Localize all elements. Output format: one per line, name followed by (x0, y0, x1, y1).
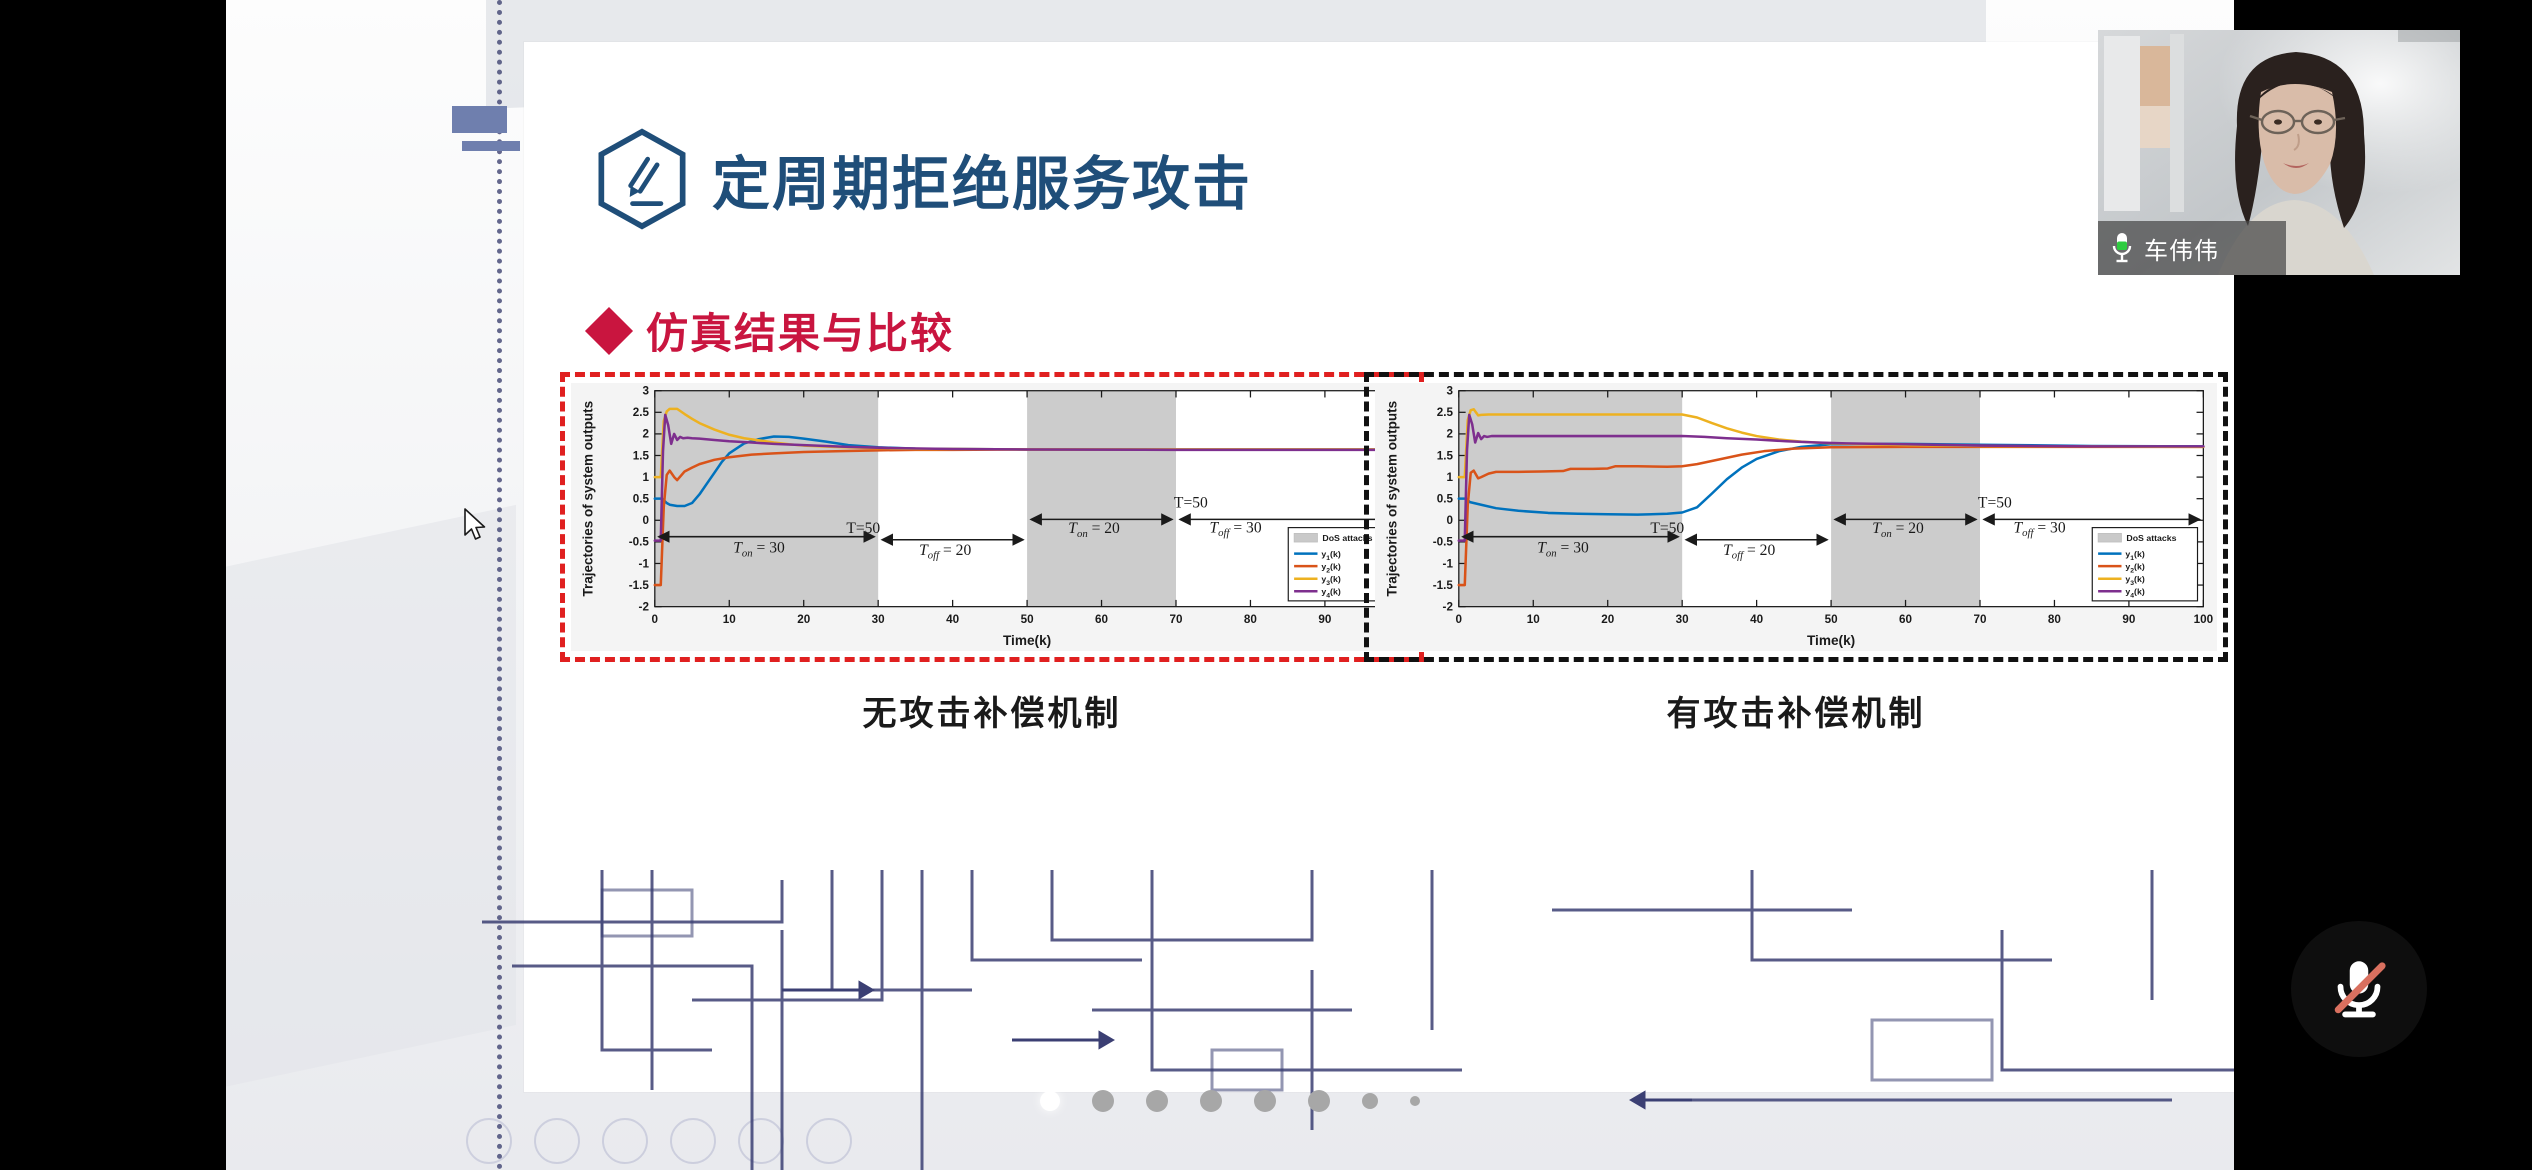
microphone-mute-button[interactable] (2291, 921, 2427, 1057)
figure-border: 0102030405060708090100-2-1.5-1-0.500.511… (1364, 372, 2228, 662)
svg-text:50: 50 (1825, 613, 1838, 626)
play-icon (534, 1118, 580, 1164)
figure-with-compensation: 0102030405060708090100-2-1.5-1-0.500.511… (1364, 372, 2228, 735)
note-icon (670, 1118, 716, 1164)
hexagon-pencil-icon (594, 127, 690, 231)
svg-text:-2: -2 (639, 601, 649, 614)
page-title: 定周期拒绝服务攻击 (712, 137, 1252, 221)
pointer-icon (602, 1118, 648, 1164)
decor-block (478, 106, 507, 133)
back-arrow-icon (466, 1118, 512, 1164)
participant-name-chip: 车伟伟 (2098, 221, 2286, 275)
svg-text:0: 0 (642, 514, 649, 527)
svg-text:2.5: 2.5 (1437, 406, 1454, 419)
svg-text:T=50: T=50 (846, 520, 880, 537)
svg-text:0: 0 (1446, 514, 1453, 527)
svg-text:2: 2 (642, 428, 649, 441)
svg-text:Ton = 20: Ton = 20 (1068, 520, 1120, 540)
svg-text:0: 0 (652, 613, 659, 626)
svg-text:Trajectories of system outputs: Trajectories of system outputs (1384, 401, 1399, 597)
participant-name: 车伟伟 (2144, 231, 2219, 266)
svg-text:T=50: T=50 (1174, 494, 1208, 511)
pagination-dot[interactable] (1092, 1090, 1114, 1112)
decor-strip (462, 141, 520, 151)
more-icon (806, 1118, 852, 1164)
microphone-icon (2110, 231, 2134, 265)
svg-text:40: 40 (946, 613, 959, 626)
microphone-muted-icon (2322, 952, 2396, 1026)
svg-text:Toff = 30: Toff = 30 (2013, 519, 2065, 539)
figure-border: 0102030405060708090100-2-1.5-1-0.500.511… (560, 372, 1424, 662)
svg-text:0.5: 0.5 (633, 493, 650, 506)
slide-subtitle: 仿真结果与比较 (646, 300, 954, 361)
pagination-dot[interactable] (1254, 1090, 1276, 1112)
svg-text:90: 90 (2122, 613, 2135, 626)
svg-text:Ton = 30: Ton = 30 (1537, 540, 1589, 560)
svg-text:20: 20 (797, 613, 810, 626)
svg-text:Toff = 20: Toff = 20 (919, 542, 971, 562)
svg-text:40: 40 (1750, 613, 1763, 626)
svg-text:2.5: 2.5 (633, 406, 650, 419)
svg-text:0.5: 0.5 (1437, 493, 1454, 506)
shared-screen-area: 定周期拒绝服务攻击 仿真结果与比较 0102030405060708090100… (226, 0, 2234, 1170)
figure-caption: 有攻击补偿机制 (1364, 686, 2228, 735)
svg-text:-1: -1 (1443, 557, 1454, 570)
svg-text:30: 30 (1676, 613, 1689, 626)
svg-text:Ton = 20: Ton = 20 (1872, 520, 1924, 540)
svg-text:10: 10 (723, 613, 736, 626)
svg-text:-1.5: -1.5 (629, 579, 650, 592)
svg-text:-1.5: -1.5 (1433, 579, 1454, 592)
svg-text:80: 80 (2048, 613, 2061, 626)
svg-text:60: 60 (1095, 613, 1108, 626)
svg-text:DoS attacks: DoS attacks (2126, 533, 2176, 543)
svg-text:1: 1 (1446, 471, 1453, 484)
figure-caption: 无攻击补偿机制 (560, 686, 1424, 735)
participant-video-tile[interactable]: 车伟伟 (2098, 30, 2460, 275)
svg-text:2: 2 (1446, 428, 1453, 441)
svg-text:1.5: 1.5 (1437, 449, 1454, 462)
svg-text:T=50: T=50 (1650, 520, 1684, 537)
pagination-dot[interactable] (1308, 1090, 1330, 1112)
svg-text:Toff = 30: Toff = 30 (1209, 519, 1261, 539)
screen: 定周期拒绝服务攻击 仿真结果与比较 0102030405060708090100… (0, 0, 2532, 1170)
slide-subtitle-row: 仿真结果与比较 (592, 300, 954, 361)
slide-pagination[interactable] (226, 1090, 2234, 1112)
svg-text:-2: -2 (1443, 601, 1453, 614)
svg-text:70: 70 (1169, 613, 1182, 626)
line-chart-left: 0102030405060708090100-2-1.5-1-0.500.511… (571, 383, 1413, 651)
svg-text:3: 3 (1446, 385, 1453, 398)
pagination-dot[interactable] (1040, 1091, 1060, 1111)
svg-text:-1: -1 (639, 557, 650, 570)
figure-no-compensation: 0102030405060708090100-2-1.5-1-0.500.511… (560, 372, 1424, 735)
svg-text:Trajectories of system outputs: Trajectories of system outputs (580, 401, 595, 597)
pagination-dot[interactable] (1362, 1093, 1378, 1109)
svg-text:0: 0 (1456, 613, 1463, 626)
svg-text:T=50: T=50 (1978, 494, 2012, 511)
mouse-pointer-icon (463, 508, 489, 542)
svg-text:50: 50 (1021, 613, 1034, 626)
background-glyph-row (466, 1118, 852, 1164)
svg-text:Time(k): Time(k) (1807, 633, 1855, 648)
svg-text:1.5: 1.5 (633, 449, 650, 462)
svg-text:100: 100 (2194, 613, 2214, 626)
chart-canvas-right: 0102030405060708090100-2-1.5-1-0.500.511… (1375, 383, 2217, 651)
svg-text:Ton = 30: Ton = 30 (733, 540, 785, 560)
svg-text:1: 1 (642, 471, 649, 484)
pagination-dot[interactable] (1200, 1090, 1222, 1112)
background-facet (226, 505, 516, 1095)
presentation-slide: 定周期拒绝服务攻击 仿真结果与比较 0102030405060708090100… (524, 42, 2234, 1092)
svg-text:-0.5: -0.5 (1433, 536, 1454, 549)
svg-text:90: 90 (1318, 613, 1331, 626)
svg-text:-0.5: -0.5 (629, 536, 650, 549)
diamond-bullet-icon (585, 306, 633, 354)
svg-text:Time(k): Time(k) (1003, 633, 1051, 648)
svg-text:10: 10 (1527, 613, 1540, 626)
dotted-divider-left (497, 0, 502, 1170)
chart-canvas-left: 0102030405060708090100-2-1.5-1-0.500.511… (571, 383, 1413, 651)
pagination-dot[interactable] (1410, 1096, 1420, 1106)
line-chart-right: 0102030405060708090100-2-1.5-1-0.500.511… (1375, 383, 2217, 651)
zoom-icon (738, 1118, 784, 1164)
svg-text:70: 70 (1973, 613, 1986, 626)
svg-text:60: 60 (1899, 613, 1912, 626)
svg-text:30: 30 (872, 613, 885, 626)
slide-title-row: 定周期拒绝服务攻击 (594, 127, 1252, 231)
svg-text:20: 20 (1601, 613, 1614, 626)
svg-text:3: 3 (642, 385, 649, 398)
svg-text:80: 80 (1244, 613, 1257, 626)
pagination-dot[interactable] (1146, 1090, 1168, 1112)
svg-text:Toff = 20: Toff = 20 (1723, 542, 1775, 562)
